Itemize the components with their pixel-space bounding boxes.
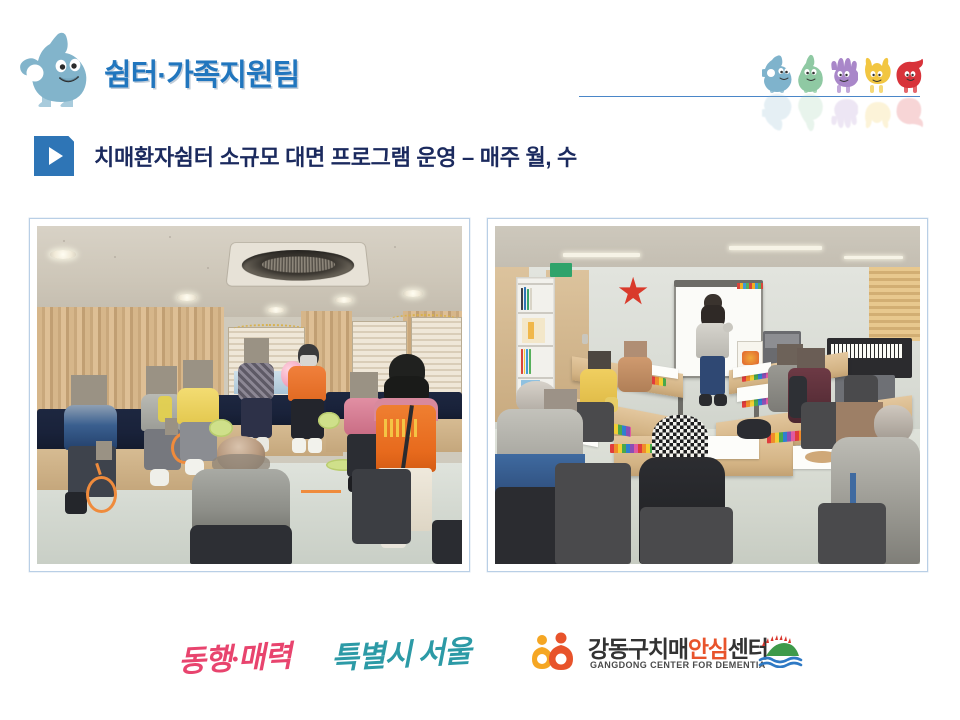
page-header: 쉼터·가족지원팀: [0, 0, 960, 118]
gangdong-people-mark-icon: [530, 632, 582, 672]
photo-left-image: [37, 226, 462, 564]
gangdong-center-name-en: GANGDONG CENTER FOR DEMENTIA: [590, 660, 766, 670]
participant-foreground: [190, 436, 292, 564]
ceiling-light: [50, 250, 76, 259]
ceiling-light: [267, 307, 285, 313]
ceiling-texture: [169, 236, 171, 238]
exit-sign-icon: [550, 263, 571, 277]
ceiling-light-strip: [729, 246, 823, 250]
mascot-purple-icon: [828, 54, 858, 94]
garland-decoration: [233, 324, 305, 334]
chair: [352, 469, 412, 543]
ceiling-light-strip: [563, 253, 640, 257]
ceiling-light: [335, 297, 353, 303]
gangdong-gu-emblem-icon: [758, 634, 804, 668]
chair: [555, 463, 632, 564]
garland-decoration: [390, 314, 458, 324]
gangdong-name-part3: 안심: [688, 636, 728, 662]
bag: [432, 520, 462, 564]
seoul-slogan-line2: 특별시 서울: [330, 626, 472, 677]
mascot-row: [762, 50, 928, 94]
participant-seated: [618, 341, 656, 402]
mascot-blue-icon: [762, 54, 792, 94]
gangdong-name-part1: 강동구: [588, 636, 648, 662]
window-blind: [869, 267, 920, 341]
chair: [640, 507, 734, 564]
footer: 동행·매력 특별시 서울 강동구치매안심센터 GANGDONG CENTER F…: [0, 614, 960, 700]
photo-right: [487, 218, 928, 572]
mascot-yellow-icon: [861, 54, 891, 94]
racket-handle: [301, 490, 341, 493]
paddle: [318, 412, 340, 429]
page-title: 쉼터·가족지원팀: [104, 50, 299, 94]
ceiling-light: [177, 294, 197, 301]
subtitle-row: 치매환자쉼터 소규모 대면 프로그램 운영 – 매주 월, 수: [0, 128, 960, 188]
play-triangle-icon: [34, 136, 74, 176]
subtitle-text: 치매환자쉼터 소규모 대면 프로그램 운영 – 매주 월, 수: [94, 140, 577, 172]
door-handle: [582, 334, 588, 344]
display-card-art: [742, 351, 759, 365]
blob-mascot-icon: [18, 28, 96, 108]
ceiling-ac-unit: [226, 241, 372, 286]
gangdong-name-part2: 치매: [648, 636, 688, 662]
ceiling-texture: [63, 240, 65, 242]
gangdong-dementia-center-logo: 강동구치매안심센터 GANGDONG CENTER FOR DEMENTIA: [530, 628, 820, 680]
mascot-row-reflection: [762, 98, 928, 132]
staff-member: [288, 344, 335, 466]
ceiling-light: [403, 290, 423, 297]
chair: [818, 503, 886, 564]
instructor: [695, 294, 733, 409]
board-markers: [737, 283, 763, 288]
mascot-green-icon: [795, 54, 825, 94]
mascot-red-icon: [894, 54, 924, 94]
racket-ring: [86, 476, 117, 513]
seoul-slogan-logo: 동행·매력 특별시 서울: [176, 626, 440, 682]
photo-left: [29, 218, 470, 572]
gangdong-center-name: 강동구치매안심센터: [588, 630, 768, 664]
ceiling-texture: [207, 267, 209, 269]
ceiling-light-strip: [844, 256, 904, 259]
photo-right-image: [495, 226, 920, 564]
seoul-slogan-line1: 동행·매력: [177, 631, 292, 681]
paddle: [209, 419, 233, 437]
